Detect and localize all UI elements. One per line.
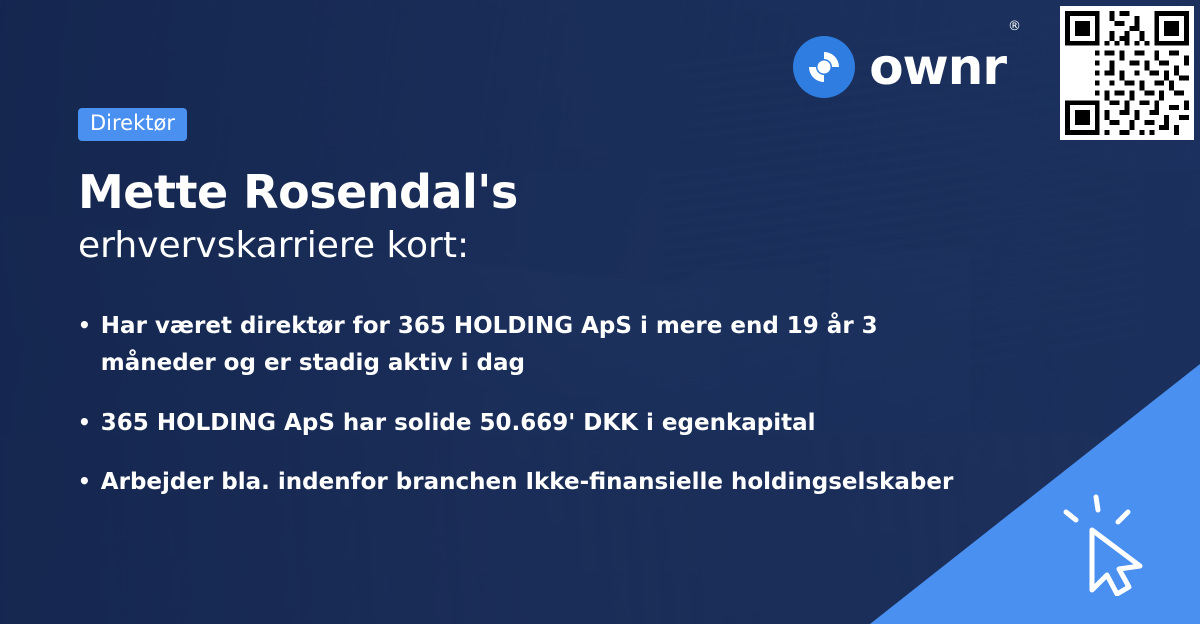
promo-card: ownr® Direktør Mette Rosendal's erhvervs…: [0, 0, 1200, 624]
list-item-text: Har været direktør for 365 HOLDING ApS i…: [101, 308, 961, 383]
brand-name-text: ownr: [869, 38, 1006, 96]
fact-list: • Har været direktør for 365 HOLDING ApS…: [78, 308, 1140, 523]
list-item: • 365 HOLDING ApS har solide 50.669' DKK…: [78, 405, 1140, 442]
list-item-text: Arbejder bla. indenfor branchen Ikke-fin…: [101, 464, 954, 501]
brand-logo[interactable]: ownr®: [793, 36, 1018, 98]
registered-mark: ®: [1008, 19, 1020, 34]
brand-name: ownr®: [869, 42, 1018, 92]
list-item: • Har været direktør for 365 HOLDING ApS…: [78, 308, 1140, 383]
list-item: • Arbejder bla. indenfor branchen Ikke-f…: [78, 464, 1140, 501]
bullet-dot-icon: •: [78, 308, 91, 343]
headline-block: Direktør Mette Rosendal's erhvervskarrie…: [78, 108, 1160, 268]
ownr-circle-logo-icon: [793, 36, 855, 98]
bullet-dot-icon: •: [78, 405, 91, 440]
bullet-dot-icon: •: [78, 464, 91, 499]
page-subtitle: erhvervskarriere kort:: [78, 223, 1160, 268]
role-badge: Direktør: [78, 108, 187, 141]
page-title: Mette Rosendal's: [78, 165, 1160, 219]
list-item-text: 365 HOLDING ApS har solide 50.669' DKK i…: [101, 405, 816, 442]
